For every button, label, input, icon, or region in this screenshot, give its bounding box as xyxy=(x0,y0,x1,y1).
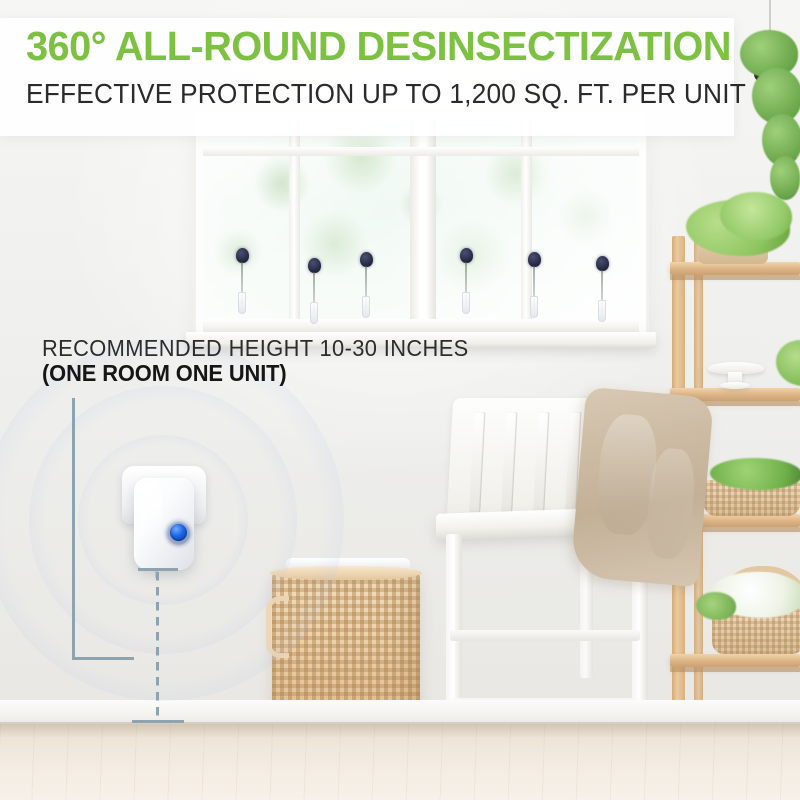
measure-tick-top xyxy=(138,568,178,571)
shelf-edge xyxy=(670,667,800,672)
shelf-board-bottom xyxy=(670,654,800,667)
device-highlight xyxy=(140,484,162,538)
thistle-bud xyxy=(596,256,609,271)
chair-slat xyxy=(469,412,485,512)
subheadline-text: EFFECTIVE PROTECTION UP TO 1,200 SQ. FT.… xyxy=(26,80,746,108)
glass-bottle xyxy=(598,300,606,322)
thistle-bud xyxy=(360,252,373,267)
window xyxy=(196,112,646,340)
product-lifestyle-image: 360° ALL-ROUND DESINSECTIZATION EFFECTIV… xyxy=(0,0,800,800)
height-guide-horizontal-line xyxy=(72,657,134,660)
window-frame-bottom xyxy=(203,319,639,333)
glass-bottle xyxy=(362,296,370,318)
plug-in-pest-repeller-device xyxy=(122,462,206,570)
thistle-bud xyxy=(528,252,541,267)
hanging-plant-foliage xyxy=(770,156,800,200)
blue-led-indicator xyxy=(170,524,187,541)
glass-bottle xyxy=(530,296,538,318)
glass-bottle xyxy=(462,292,470,314)
shelf-edge xyxy=(670,275,800,280)
measure-tick-bottom xyxy=(132,720,184,723)
compote-base xyxy=(720,382,750,389)
thistle-bud xyxy=(236,248,249,263)
flower-leaves xyxy=(696,592,736,620)
callout-one-room-one-unit: (ONE ROOM ONE UNIT) xyxy=(42,360,469,387)
glass-bottle xyxy=(238,292,246,314)
shelf-plant-second xyxy=(776,340,800,386)
glass-bottle xyxy=(310,302,318,324)
chair-stretcher xyxy=(450,630,640,641)
thistle-bud xyxy=(308,258,321,273)
height-guide-vertical-line xyxy=(72,398,75,660)
placement-callout: RECOMMENDED HEIGHT 10-30 INCHES (ONE ROO… xyxy=(42,336,491,388)
floor-wall-shadow xyxy=(0,722,800,738)
floor-distance-dashed-line xyxy=(156,572,159,722)
chair-slat xyxy=(501,412,517,512)
chair-slat xyxy=(533,412,549,512)
window-mullion-horizontal xyxy=(203,147,639,156)
callout-recommended-height: RECOMMENDED HEIGHT 10-30 INCHES xyxy=(42,336,469,360)
beige-throw-blanket xyxy=(570,387,714,587)
headline-text: 360° ALL-ROUND DESINSECTIZATION xyxy=(26,26,731,67)
thistle-bud xyxy=(460,248,473,263)
